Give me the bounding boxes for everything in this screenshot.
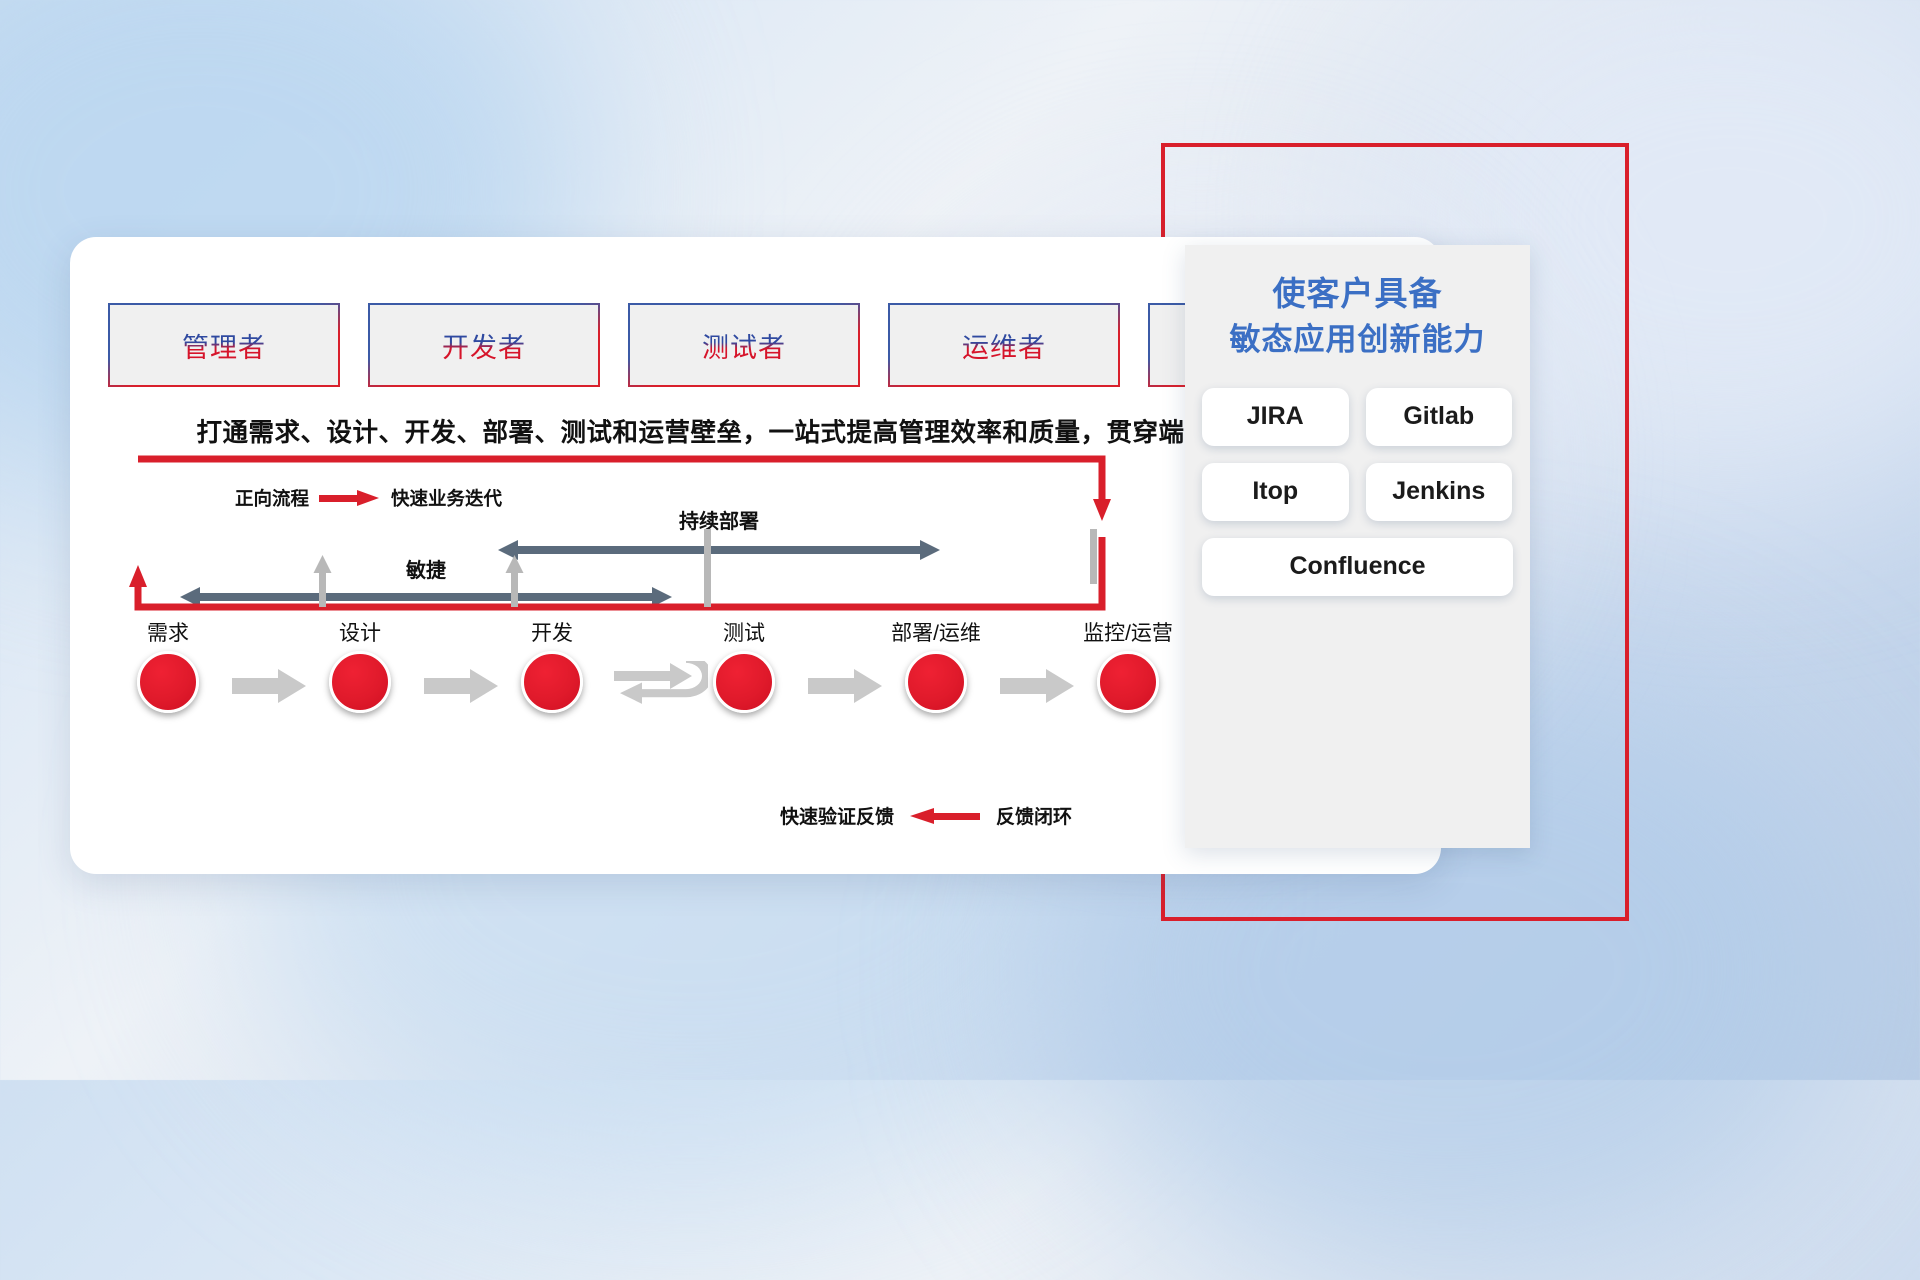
span-label-agile: 敏捷 [180, 554, 672, 583]
role-label: 测试者 [702, 326, 786, 365]
stage-dot-icon [713, 651, 775, 713]
pipeline-stage-development[interactable]: 开发 [492, 617, 612, 713]
role-box-manager[interactable]: 管理者 [108, 303, 340, 387]
role-label: 开发者 [442, 326, 526, 365]
tool-chip-gitlab[interactable]: Gitlab [1366, 388, 1513, 446]
pipeline-stage-design[interactable]: 设计 [300, 617, 420, 713]
stage-label: 开发 [492, 617, 612, 647]
tool-chip-jenkins[interactable]: Jenkins [1366, 463, 1513, 521]
stage-label: 设计 [300, 617, 420, 647]
tool-chip-itop[interactable]: Itop [1202, 463, 1349, 521]
toolchain-title-line2: 敏态应用创新能力 [1193, 318, 1522, 362]
legend-forward-flow: 正向流程 快速业务迭代 [235, 485, 502, 511]
stage-dot-icon [1097, 651, 1159, 713]
toolchain-title-line1: 使客户具备 [1273, 275, 1443, 312]
arrow-head-right-icon [920, 540, 940, 560]
stage-dot-icon [329, 651, 391, 713]
arrow-head-left-icon [180, 587, 200, 607]
role-box-tester[interactable]: 测试者 [628, 303, 860, 387]
arrow-right-red-icon [319, 490, 381, 506]
toolchain-chip-list: JIRA Gitlab Itop Jenkins Confluence [1185, 366, 1530, 596]
span-continuous-deployment: 持续部署 [498, 505, 940, 560]
stage-dot-icon [137, 651, 199, 713]
stage-dot-icon [521, 651, 583, 713]
toolchain-panel: 使客户具备 敏态应用创新能力 JIRA Gitlab Itop Jenkins … [1185, 245, 1530, 848]
connector-arrow-icon [424, 669, 498, 703]
pipeline-stage-deploy-ops[interactable]: 部署/运维 [876, 617, 996, 713]
double-arrow-icon [180, 587, 672, 607]
arrow-head-right-icon [652, 587, 672, 607]
tool-chip-confluence[interactable]: Confluence [1202, 538, 1513, 596]
stage-dot-icon [905, 651, 967, 713]
pipeline-stage-testing[interactable]: 测试 [684, 617, 804, 713]
legend-forward-right-label: 快速业务迭代 [391, 485, 502, 511]
role-box-developer[interactable]: 开发者 [368, 303, 600, 387]
span-agile: 敏捷 [180, 554, 672, 607]
stage-label: 监控/运营 [1068, 617, 1188, 647]
stage-label: 测试 [684, 617, 804, 647]
connector-arrow-icon [808, 669, 882, 703]
role-label: 运维者 [962, 326, 1046, 365]
legend-forward-left-label: 正向流程 [235, 485, 309, 511]
tool-chip-jira[interactable]: JIRA [1202, 388, 1349, 446]
role-box-ops[interactable]: 运维者 [888, 303, 1120, 387]
connector-arrow-icon [232, 669, 306, 703]
stage-label: 部署/运维 [876, 617, 996, 647]
pipeline-stage-monitor-operations[interactable]: 监控/运营 [1068, 617, 1188, 713]
arrow-bar [516, 546, 922, 554]
role-label: 管理者 [182, 326, 266, 365]
toolchain-panel-title: 使客户具备 敏态应用创新能力 [1185, 245, 1530, 366]
pipeline-stage-requirements[interactable]: 需求 [108, 617, 228, 713]
stage-label: 需求 [108, 617, 228, 647]
legend-feedback-right-label: 反馈闭环 [996, 802, 1072, 829]
arrow-left-red-icon [910, 808, 980, 824]
connector-arrow-icon [1000, 669, 1074, 703]
legend-feedback-left-label: 快速验证反馈 [780, 802, 894, 829]
legend-feedback-loop: 快速验证反馈 反馈闭环 [780, 802, 1072, 829]
arrow-bar [198, 593, 654, 601]
span-label-continuous-deployment: 持续部署 [498, 505, 940, 534]
